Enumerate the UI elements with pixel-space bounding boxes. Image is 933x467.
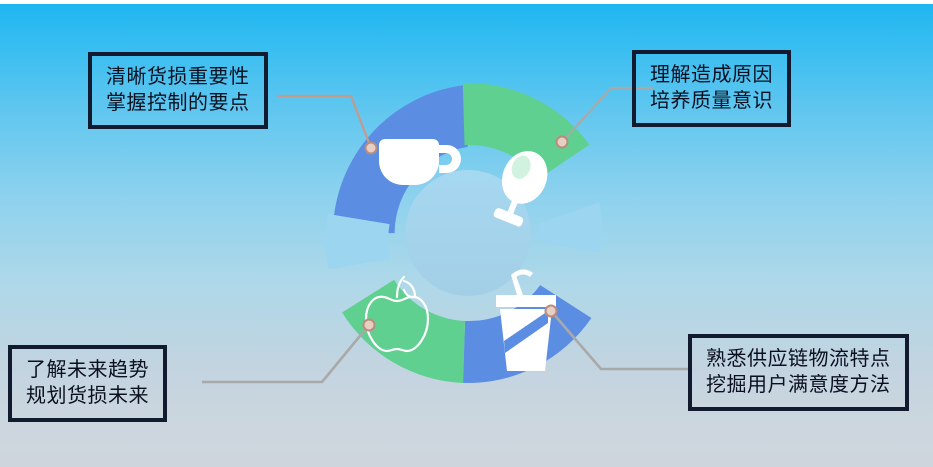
callout-top-left-line2: 掌握控制的要点	[106, 89, 250, 115]
callout-bottom-right-line2: 挖掘用户满意度方法	[706, 371, 891, 397]
donut-segment-apple[interactable]	[341, 277, 467, 383]
callout-bottom-right[interactable]: 熟悉供应链物流特点 挖掘用户满意度方法	[688, 334, 909, 411]
callout-top-right-line1: 理解造成原因	[650, 61, 773, 87]
callout-bottom-left-line2: 规划货损未来	[26, 382, 149, 408]
callout-top-left-line1: 清晰货损重要性	[106, 63, 250, 89]
top-white-strip	[0, 0, 933, 4]
donut-chart	[318, 83, 618, 383]
callout-top-right[interactable]: 理解造成原因 培养质量意识	[632, 50, 791, 127]
donut-segment-right-accent[interactable]	[538, 202, 602, 252]
callout-top-right-line2: 培养质量意识	[650, 87, 773, 113]
callout-bottom-right-line1: 熟悉供应链物流特点	[706, 345, 891, 371]
callout-top-left[interactable]: 清晰货损重要性 掌握控制的要点	[88, 52, 268, 129]
donut-chart-svg	[318, 83, 618, 383]
callout-bottom-left-line1: 了解未来趋势	[26, 356, 149, 382]
infographic-canvas: 清晰货损重要性 掌握控制的要点 理解造成原因 培养质量意识 了解未来趋势 规划货…	[0, 0, 933, 467]
callout-bottom-left[interactable]: 了解未来趋势 规划货损未来	[8, 345, 167, 422]
